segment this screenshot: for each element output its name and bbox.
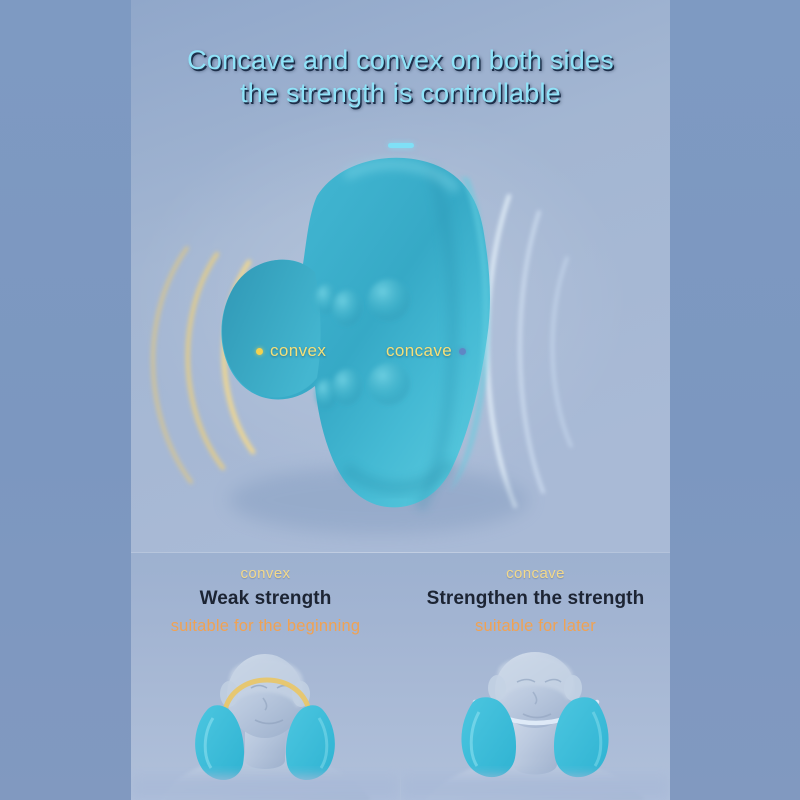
illustration-row	[131, 648, 670, 800]
hotspot-label-concave: concave	[386, 341, 466, 361]
comparison-section: convex Weak strength suitable for the be…	[131, 553, 670, 800]
product-feature-image: convex concave Concave and convex on bot…	[0, 0, 800, 800]
illustration-convex-usage	[131, 648, 400, 800]
concave-caption: concave	[401, 565, 670, 582]
left-border-band	[0, 0, 131, 800]
title-underline-accent	[388, 143, 414, 148]
illustration-concave-usage	[401, 648, 670, 800]
hotspot-label-convex: convex	[256, 341, 326, 361]
page-title: Concave and convex on both sides the str…	[131, 44, 670, 110]
convex-caption: convex	[131, 565, 400, 582]
content-panel: convex concave Concave and convex on bot…	[131, 0, 670, 800]
convex-title: Weak strength	[131, 588, 400, 610]
yellow-dot-icon	[256, 348, 263, 355]
hotspot-concave-text: concave	[386, 341, 452, 361]
hotspot-convex-text: convex	[270, 341, 326, 361]
concave-subtitle: suitable for later	[401, 617, 670, 636]
comparison-column-concave: concave Strengthen the strength suitable…	[401, 565, 670, 636]
right-border-band	[670, 0, 800, 800]
comparison-column-convex: convex Weak strength suitable for the be…	[131, 565, 400, 636]
concave-title: Strengthen the strength	[401, 588, 670, 610]
convex-subtitle: suitable for the beginning	[131, 617, 400, 636]
blue-dot-icon	[459, 348, 466, 355]
